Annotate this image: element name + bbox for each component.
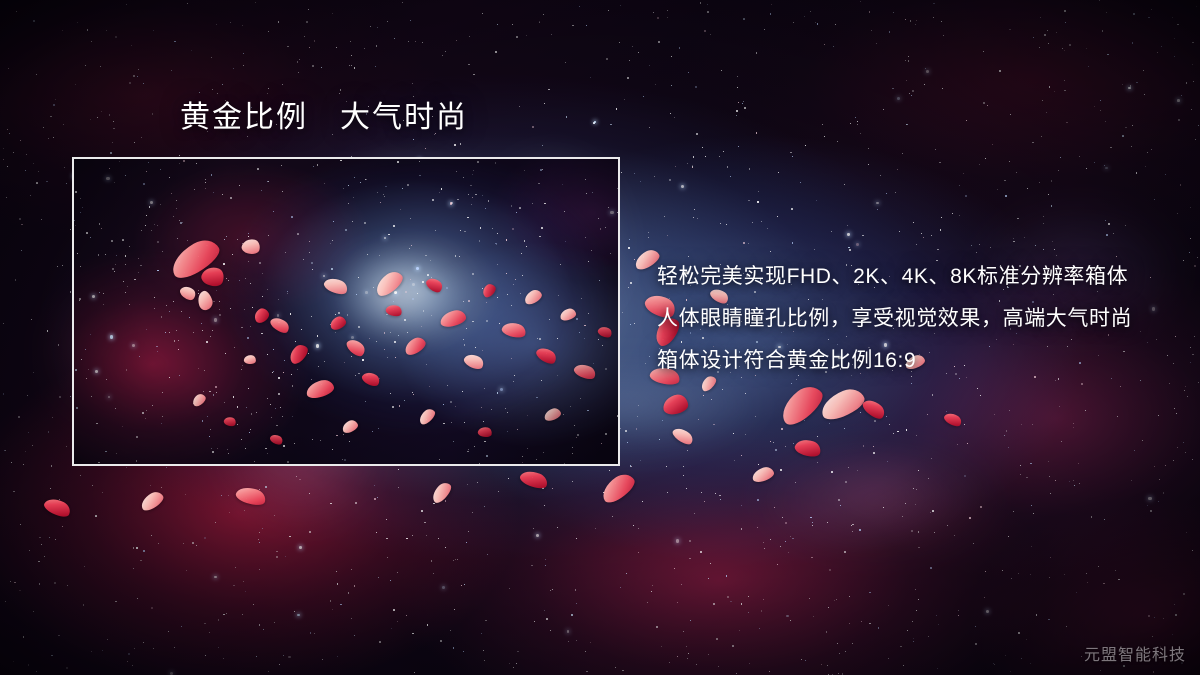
petal	[662, 393, 689, 415]
watermark-text: 元盟智能科技	[1084, 646, 1186, 666]
body-line-2: 人体眼睛瞳孔比例，享受视觉效果，高端大气时尚	[657, 298, 1177, 340]
slide-canvas: 黄金比例 大气时尚 轻松完美实现FHD、2K、4K、8K标准分辨率箱体 人体眼睛…	[0, 0, 1200, 675]
frame-inner	[74, 159, 618, 464]
body-line-3: 箱体设计符合黄金比例16:9	[657, 340, 1177, 382]
petal	[751, 465, 776, 484]
body-copy: 轻松完美实现FHD、2K、4K、8K标准分辨率箱体 人体眼睛瞳孔比例，享受视觉效…	[657, 256, 1177, 382]
petal	[942, 410, 963, 429]
petal	[817, 384, 868, 423]
petal	[138, 489, 166, 513]
petal	[671, 425, 696, 448]
petal	[42, 495, 73, 520]
petal	[518, 467, 550, 491]
page-title: 黄金比例 大气时尚	[180, 100, 468, 136]
petal	[793, 436, 823, 459]
petal	[234, 484, 267, 508]
frame-vignette	[74, 159, 618, 464]
petal	[597, 470, 638, 507]
petal	[429, 480, 454, 506]
framed-product-image	[72, 157, 620, 466]
body-line-1: 轻松完美实现FHD、2K、4K、8K标准分辨率箱体	[657, 256, 1177, 298]
petal	[775, 380, 828, 429]
